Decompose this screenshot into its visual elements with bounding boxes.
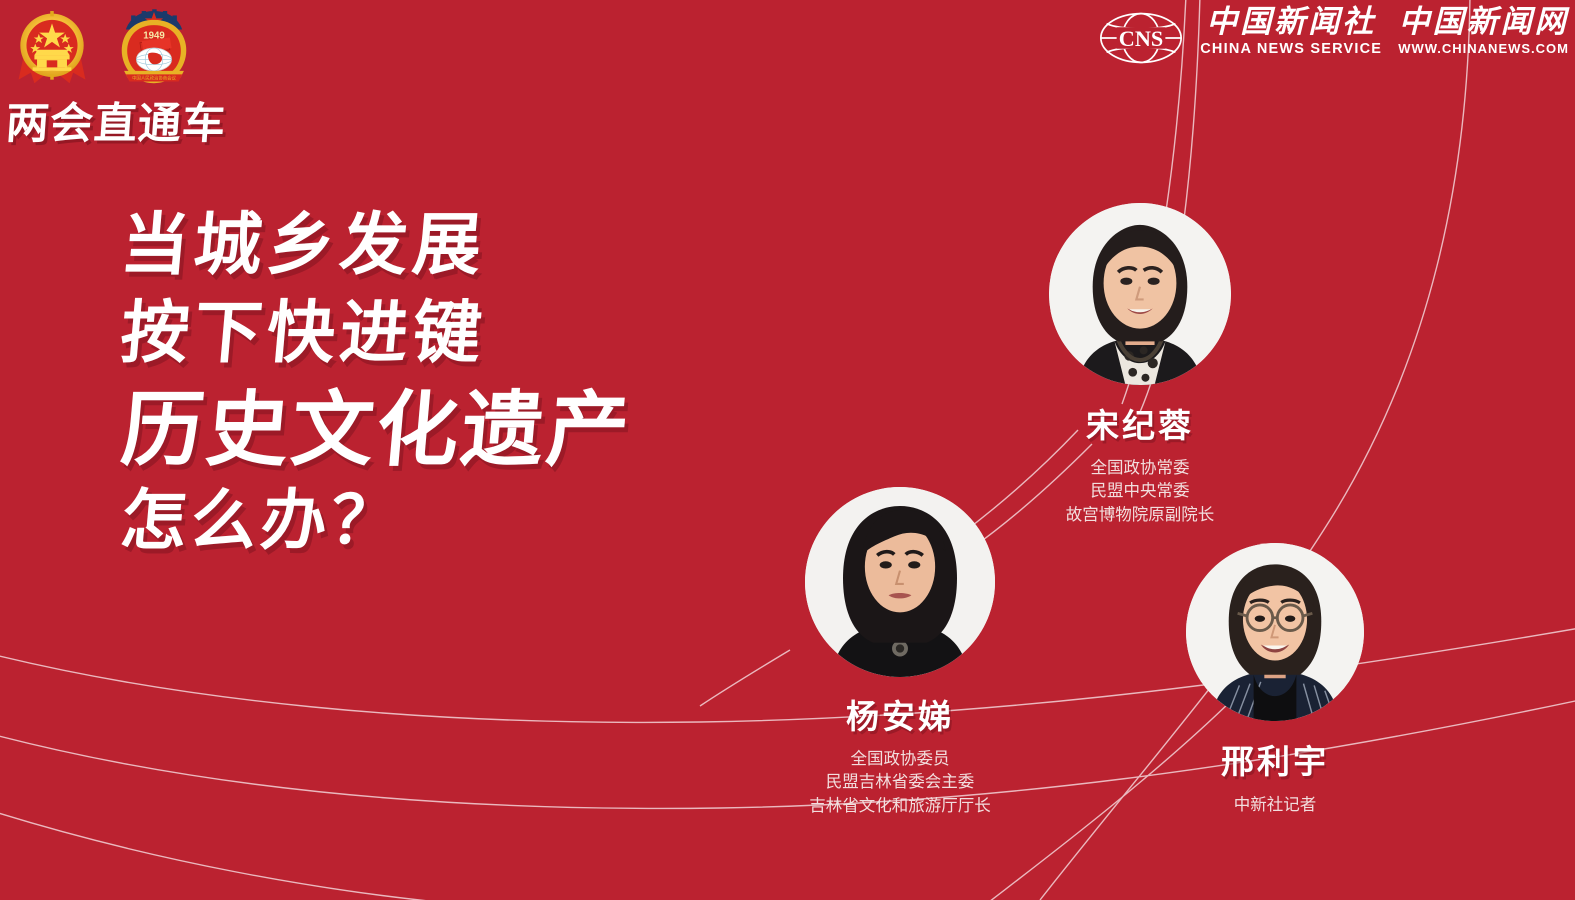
speaker-title-line: 中新社记者 — [1105, 793, 1445, 816]
national-emblem-of-china-icon — [8, 4, 96, 92]
svg-text:CNS: CNS — [1119, 26, 1163, 51]
poster-canvas: 1949 中国人民政治协商会议 两会直通车 — [0, 0, 1575, 900]
avatar — [1049, 203, 1231, 385]
emblem-bar: 1949 中国人民政治协商会议 — [8, 4, 198, 92]
cppcc-emblem-icon: 1949 中国人民政治协商会议 — [110, 4, 198, 92]
program-wordmark: 两会直通车 — [4, 103, 227, 146]
brand-cn-label: 中国新闻网 — [1399, 6, 1569, 39]
brand-url-label: WWW.CHINANEWS.COM — [1398, 41, 1569, 56]
speaker-title-line: 全国政协常委 — [955, 456, 1325, 479]
cns-globe-icon: CNS CNS — [1098, 10, 1184, 71]
headline-line-2: 按下快进键 — [118, 300, 634, 368]
speaker-name: 杨安娣 — [715, 690, 1085, 738]
speaker-titles: 全国政协委员 民盟吉林省委会主委 吉林省文化和旅游厅厅长 — [715, 747, 1085, 817]
speaker-name: 宋纪蓉 — [955, 399, 1325, 447]
curve-line-9 — [0, 812, 470, 900]
speaker-card-yang[interactable]: 杨安娣 全国政协委员 民盟吉林省委会主委 吉林省文化和旅游厅厅长 — [715, 487, 1085, 817]
speaker-titles: 中新社记者 — [1105, 793, 1445, 816]
avatar — [805, 487, 995, 677]
brand-chinanews-web: 中国新闻网 WWW.CHINANEWS.COM — [1398, 6, 1569, 56]
avatar — [1186, 543, 1364, 721]
brand-cn-label: 中国新闻社 — [1206, 6, 1376, 39]
headline-line-3: 历史文化遗产 — [118, 390, 635, 472]
brand-china-news-service: 中国新闻社 CHINA NEWS SERVICE — [1200, 6, 1382, 57]
speaker-card-song[interactable]: 宋纪蓉 全国政协常委 民盟中央常委 故宫博物院原副院长 — [955, 203, 1325, 526]
brand-en-label: CHINA NEWS SERVICE — [1200, 41, 1382, 57]
speaker-title-line: 民盟吉林省委会主委 — [715, 770, 1085, 793]
masthead: CNS CNS 中国新闻社 CHINA NEWS SERVICE 中国新闻网 W… — [1098, 6, 1569, 71]
speaker-title-line: 吉林省文化和旅游厅厅长 — [715, 794, 1085, 817]
speaker-title-line: 全国政协委员 — [715, 747, 1085, 770]
headline-line-1: 当城乡发展 — [118, 212, 634, 280]
svg-text:中国人民政治协商会议: 中国人民政治协商会议 — [132, 75, 177, 82]
headline-line-4: 怎么办？ — [118, 488, 634, 554]
speaker-card-xing[interactable]: 邢利宇 中新社记者 — [1105, 543, 1445, 816]
speaker-name: 邢利宇 — [1105, 735, 1445, 783]
page-title: 当城乡发展 按下快进键 历史文化遗产 怎么办？ — [118, 212, 628, 554]
